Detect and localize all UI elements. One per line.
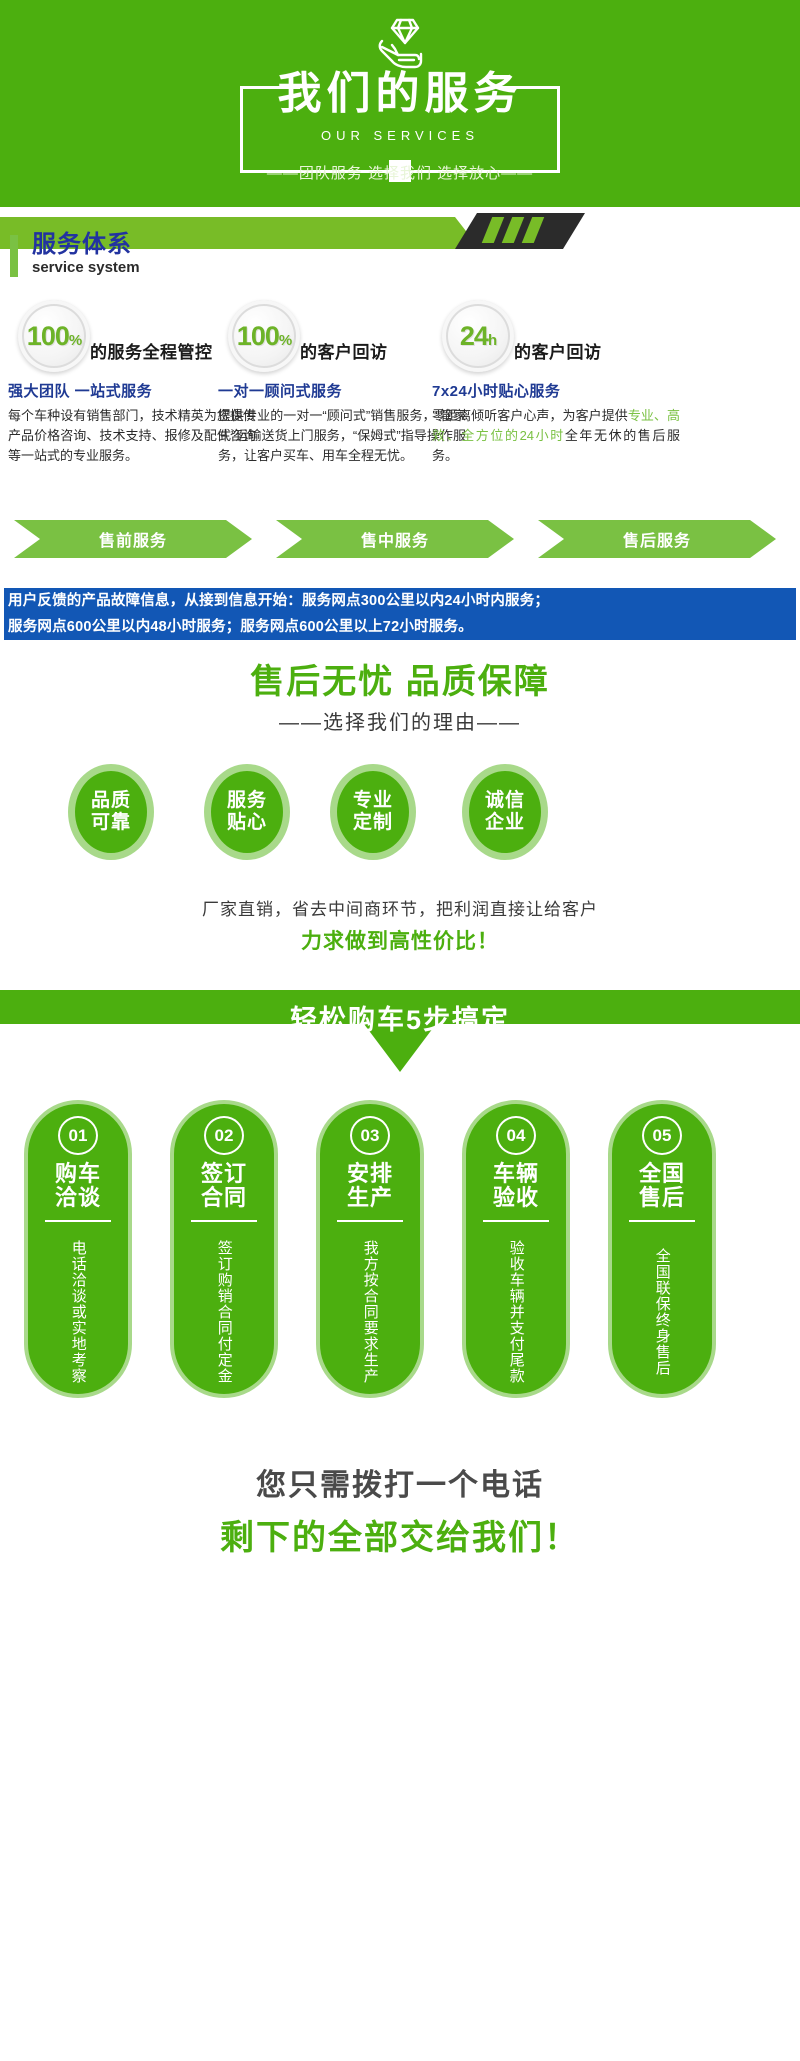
section-title-en: service system	[32, 259, 140, 276]
step-desc-2: 签订购销合同付定金	[214, 1230, 234, 1394]
chevron-pre-sale[interactable]: 售前服务	[14, 520, 252, 558]
step-pill-2[interactable]: 02 签订合同 签订购销合同付定金	[170, 1100, 278, 1398]
metric-badge-2: 100%	[228, 300, 300, 372]
step-title-3-line1: 安排	[347, 1161, 393, 1186]
feature-body-3-lead: 零距离倾听客户心声，为客户提供	[432, 408, 628, 423]
metric-unit-1: %	[69, 332, 81, 349]
metric-unit-2: %	[279, 332, 291, 349]
reason-circles: 品质 可靠 服务 贴心 专业 定制 诚信 企业	[0, 764, 800, 864]
reasons-subtitle: ——选择我们的理由——	[0, 706, 800, 735]
step-title-1-line1: 购车	[55, 1161, 101, 1186]
service-stage-chevrons: 售前服务 售中服务 售后服务	[14, 520, 790, 560]
step-title-2-line2: 合同	[201, 1185, 247, 1210]
step-pill-4[interactable]: 04 车辆验收 验收车辆并支付尾款	[462, 1100, 570, 1398]
metric-label-2: 的客户回访	[300, 338, 388, 363]
feature-column-2: 100% 的客户回访 一对一顾问式服务 提供专业的一对一“顾问式”销售服务，“管…	[218, 300, 468, 378]
hero-tagline: ——团队服务 选择我们 选择放心——	[0, 162, 800, 183]
step-number-5: 05	[642, 1116, 682, 1155]
step-pill-3[interactable]: 03 安排生产 我方按合同要求生产	[316, 1100, 424, 1398]
reason-circle-quality: 品质 可靠	[68, 764, 154, 860]
reason-circle-3-line1: 专业	[353, 790, 393, 812]
purchase-steps: 01 购车洽谈 电话洽谈或实地考察 02 签订合同 签订购销合同付定金 03 安…	[0, 1100, 800, 1420]
footer-line-1: 您只需拨打一个电话	[0, 1460, 800, 1504]
service-policy-line-1: 用户反馈的产品故障信息，从接到信息开始：服务网点300公里以内24小时内服务；	[8, 588, 792, 614]
step-title-5-line2: 售后	[639, 1185, 685, 1210]
reason-circle-3-line2: 定制	[353, 812, 393, 834]
metric-badge-1: 100%	[18, 300, 90, 372]
feature-column-3: 24h 的客户回访 7x24小时贴心服务 零距离倾听客户心声，为客户提供专业、高…	[432, 300, 682, 378]
step-divider-3	[337, 1220, 403, 1222]
step-number-1: 01	[58, 1116, 98, 1155]
hero-title: 我们的服务	[0, 72, 800, 116]
reason-circle-2-line1: 服务	[227, 790, 267, 812]
step-desc-4: 验收车辆并支付尾款	[506, 1230, 526, 1394]
reason-circle-4-line1: 诚信	[485, 790, 525, 812]
footer-line-2: 剩下的全部交给我们！	[0, 1510, 800, 1559]
metric-unit-3: h	[488, 332, 496, 349]
section-title-cn: 服务体系	[32, 232, 132, 258]
feature-subtitle-2: 一对一顾问式服务	[218, 380, 342, 401]
metric-badge-3: 24h	[442, 300, 514, 372]
metric-value-2: 100	[237, 321, 279, 351]
feature-columns: 100% 的服务全程管控 强大团队 一站式服务 每个车种设有销售部门，技术精英为…	[0, 300, 800, 500]
reasons-slogan: 力求做到高性价比！	[0, 925, 800, 955]
reasons-footnote: 厂家直销，省去中间商环节，把利润直接让给客户	[0, 895, 800, 920]
step-desc-5: 全国联保终身售后	[652, 1230, 672, 1394]
reason-circle-service: 服务 贴心	[204, 764, 290, 860]
reasons-title: 售后无忧 品质保障	[0, 654, 800, 703]
step-number-2: 02	[204, 1116, 244, 1155]
step-desc-3: 我方按合同要求生产	[360, 1230, 380, 1394]
feature-body-3: 零距离倾听客户心声，为客户提供专业、高效、全方位的24小时全年无休的售后服务。	[432, 406, 680, 466]
feature-badge-row-2: 100% 的客户回访	[218, 300, 468, 378]
step-title-3-line2: 生产	[347, 1185, 393, 1210]
steps-banner-title: 轻松购车5步搞定	[0, 998, 800, 1037]
chevron-after-sale[interactable]: 售后服务	[538, 520, 776, 558]
reason-circle-4-line2: 企业	[485, 812, 525, 834]
metric-value-3: 24	[460, 321, 488, 351]
step-divider-4	[483, 1220, 549, 1222]
step-divider-5	[629, 1220, 695, 1222]
feature-subtitle-3: 7x24小时贴心服务	[432, 380, 560, 401]
step-title-4-line1: 车辆	[493, 1161, 539, 1186]
reason-circle-2-line2: 贴心	[227, 812, 267, 834]
metric-label-3: 的客户回访	[514, 338, 602, 363]
step-pill-1[interactable]: 01 购车洽谈 电话洽谈或实地考察	[24, 1100, 132, 1398]
step-desc-1: 电话洽谈或实地考察	[68, 1230, 88, 1394]
feature-badge-row-3: 24h 的客户回访	[432, 300, 682, 378]
step-title-1-line2: 洽谈	[55, 1185, 101, 1210]
feature-body-2: 提供专业的一对一“顾问式”销售服务，“管家式”运输送货上门服务，“保姆式”指导操…	[218, 406, 466, 466]
metric-label-1: 的服务全程管控	[90, 338, 213, 363]
service-policy-bar: 用户反馈的产品故障信息，从接到信息开始：服务网点300公里以内24小时内服务； …	[4, 588, 796, 640]
reason-circle-integrity: 诚信 企业	[462, 764, 548, 860]
feature-subtitle-1: 强大团队 一站式服务	[8, 380, 152, 401]
hero-subtitle: OUR SERVICES	[0, 128, 800, 143]
step-pill-5[interactable]: 05 全国售后 全国联保终身售后	[608, 1100, 716, 1398]
step-number-4: 04	[496, 1116, 536, 1155]
hero-banner: 我们的服务 OUR SERVICES ——团队服务 选择我们 选择放心——	[0, 0, 800, 207]
step-divider-1	[45, 1220, 111, 1222]
service-policy-line-2: 服务网点600公里以内48小时服务；服务网点600公里以上72小时服务。	[8, 614, 792, 640]
step-number-3: 03	[350, 1116, 390, 1155]
step-divider-2	[191, 1220, 257, 1222]
reason-circle-1-line1: 品质	[91, 790, 131, 812]
metric-value-1: 100	[27, 321, 69, 351]
step-title-4-line2: 验收	[493, 1185, 539, 1210]
feature-body-3-highlight-2: 24小时	[520, 428, 565, 443]
step-title-2-line1: 签订	[201, 1161, 247, 1186]
section-accent-bar	[10, 235, 18, 277]
step-title-5-line1: 全国	[639, 1161, 685, 1186]
reason-circle-custom: 专业 定制	[330, 764, 416, 860]
reason-circle-1-line2: 可靠	[91, 812, 131, 834]
chevron-during-sale[interactable]: 售中服务	[276, 520, 514, 558]
